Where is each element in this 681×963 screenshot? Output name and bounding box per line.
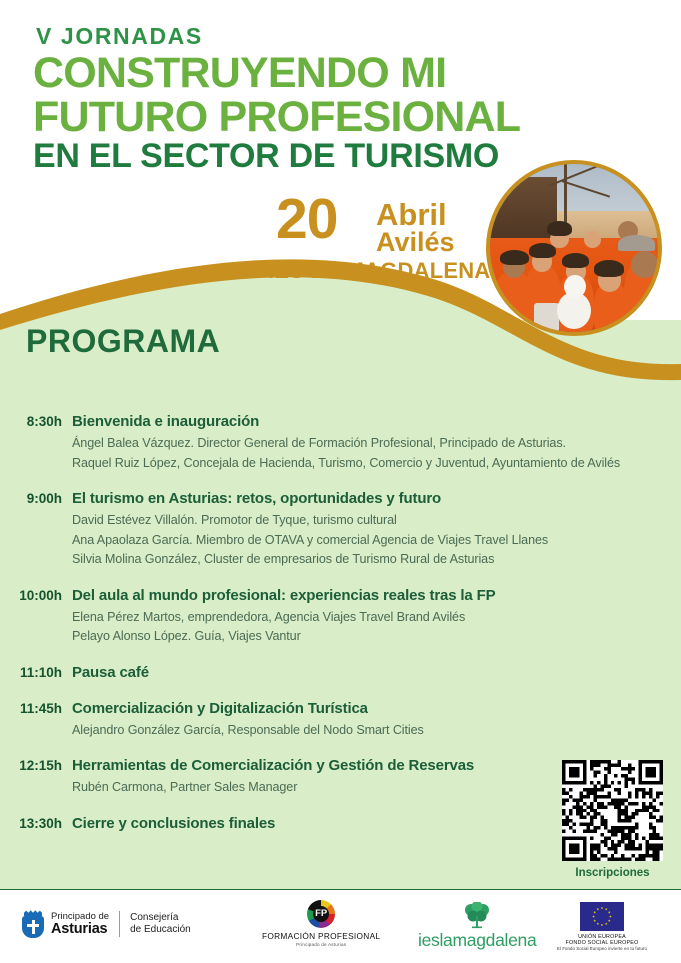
logo-principado-asturias: Principado de Asturias Consejería de Edu… <box>22 910 191 938</box>
ies-name: ieslamagdalena <box>418 930 536 951</box>
date-day: 20 <box>276 191 337 248</box>
schedule-speakers: Elena Pérez Martos, emprendedora, Agenci… <box>72 608 681 647</box>
schedule-speakers: Ángel Balea Vázquez. Director General de… <box>72 434 681 473</box>
date-city: Avilés <box>376 229 455 256</box>
eu-star-icon <box>601 924 604 927</box>
eu-star-icon <box>601 907 604 910</box>
qr-block[interactable]: Inscripciones <box>562 760 663 879</box>
schedule-title: Bienvenida e inauguración <box>72 412 681 432</box>
asturias-shield-icon <box>22 910 44 938</box>
date-month: Abril <box>376 199 447 230</box>
schedule-body: El turismo en Asturias: retos, oportunid… <box>62 489 681 570</box>
title-line-1: CONSTRUYENDO MI <box>33 53 446 94</box>
fp-mark: FP <box>307 900 335 928</box>
schedule-title: Pausa café <box>72 663 681 683</box>
schedule-time: 11:45h <box>0 699 62 719</box>
eu-line2: FONDO SOCIAL EUROPEO <box>557 940 647 946</box>
eu-star-icon <box>609 915 612 918</box>
poster-root: V JORNADAS CONSTRUYENDO MI FUTURO PROFES… <box>0 0 681 963</box>
schedule-time: 13:30h <box>0 814 62 834</box>
qr-caption: Inscripciones <box>562 867 663 879</box>
schedule-speaker: Alejandro González García, Responsable d… <box>72 721 681 741</box>
eu-star-icon <box>605 908 608 911</box>
schedule-speaker: Ana Apaolaza García. Miembro de OTAVA y … <box>72 531 681 551</box>
date-venue: IES LA MAGDALENA <box>268 260 490 282</box>
programa-heading: PROGRAMA <box>26 325 220 357</box>
schedule-row: 8:30hBienvenida e inauguraciónÁngel Bale… <box>0 412 681 473</box>
schedule-body: Del aula al mundo profesional: experienc… <box>62 586 681 647</box>
fp-ring-icon: FP <box>307 900 335 928</box>
eu-flag-icon <box>580 902 624 931</box>
schedule-row: 10:00hDel aula al mundo profesional: exp… <box>0 586 681 647</box>
footer-logos: Principado de Asturias Consejería de Edu… <box>0 892 681 963</box>
schedule-row: 11:45hComercialización y Digitalización … <box>0 699 681 741</box>
schedule-body: Pausa café <box>62 663 681 683</box>
schedule-speaker: Elena Pérez Martos, emprendedora, Agenci… <box>72 608 681 628</box>
eu-star-icon <box>608 919 611 922</box>
logo-divider <box>119 911 120 937</box>
qr-code[interactable] <box>562 760 663 861</box>
schedule-time: 10:00h <box>0 586 62 606</box>
schedule-speaker: Pelayo Alonso López. Guía, Viajes Vantur <box>72 627 681 647</box>
schedule-speaker: Silvia Molina González, Cluster de empre… <box>72 550 681 570</box>
eu-star-icon <box>593 911 596 914</box>
schedule-title: Del aula al mundo profesional: experienc… <box>72 586 681 606</box>
eu-star-icon <box>593 919 596 922</box>
consejeria-line1: Consejería <box>130 912 191 925</box>
schedule-title: Comercialización y Digitalización Turíst… <box>72 699 681 719</box>
kicker-text: V JORNADAS <box>36 25 203 48</box>
eu-star-icon <box>605 922 608 925</box>
schedule-body: Bienvenida e inauguraciónÁngel Balea Váz… <box>62 412 681 473</box>
schedule-row: 9:00hEl turismo en Asturias: retos, opor… <box>0 489 681 570</box>
title-line-2: FUTURO PROFESIONAL <box>33 97 520 138</box>
logo-formacion-profesional: FP FORMACIÓN PROFESIONAL Principado de A… <box>262 900 380 947</box>
fp-line2: Principado de Asturias <box>262 942 380 947</box>
schedule-speaker: Raquel Ruiz López, Concejala de Hacienda… <box>72 454 681 474</box>
schedule-body: Comercialización y Digitalización Turíst… <box>62 699 681 741</box>
logo-union-europea: UNIÓN EUROPEA FONDO SOCIAL EUROPEO El Fo… <box>557 902 647 951</box>
schedule-time: 12:15h <box>0 756 62 776</box>
fp-line1: FORMACIÓN PROFESIONAL <box>262 931 380 941</box>
eu-line3: El Fondo Social Europeo invierte en tu f… <box>557 946 647 951</box>
asturias-line2: Asturias <box>51 922 109 937</box>
group-photo-image <box>490 164 658 332</box>
eu-star-icon <box>592 915 595 918</box>
schedule-title: El turismo en Asturias: retos, oportunid… <box>72 489 681 509</box>
logo-ieslamagdalena: ieslamagdalena <box>418 902 536 951</box>
schedule-time: 8:30h <box>0 412 62 432</box>
schedule-speakers: Alejandro González García, Responsable d… <box>72 721 681 741</box>
eu-star-icon <box>608 911 611 914</box>
title-line-3: EN EL SECTOR DE TURISMO <box>33 140 499 172</box>
tree-icon <box>462 902 492 929</box>
schedule-speaker: Ángel Balea Vázquez. Director General de… <box>72 434 681 454</box>
schedule-speakers: David Estévez Villalón. Promotor de Tyqu… <box>72 511 681 570</box>
eu-star-icon <box>596 908 599 911</box>
schedule-time: 9:00h <box>0 489 62 509</box>
consejeria-line2: de Educación <box>130 924 191 937</box>
schedule-speaker: David Estévez Villalón. Promotor de Tyqu… <box>72 511 681 531</box>
schedule-row: 11:10hPausa café <box>0 663 681 683</box>
eu-star-icon <box>596 922 599 925</box>
schedule-time: 11:10h <box>0 663 62 683</box>
group-photo <box>486 160 662 336</box>
